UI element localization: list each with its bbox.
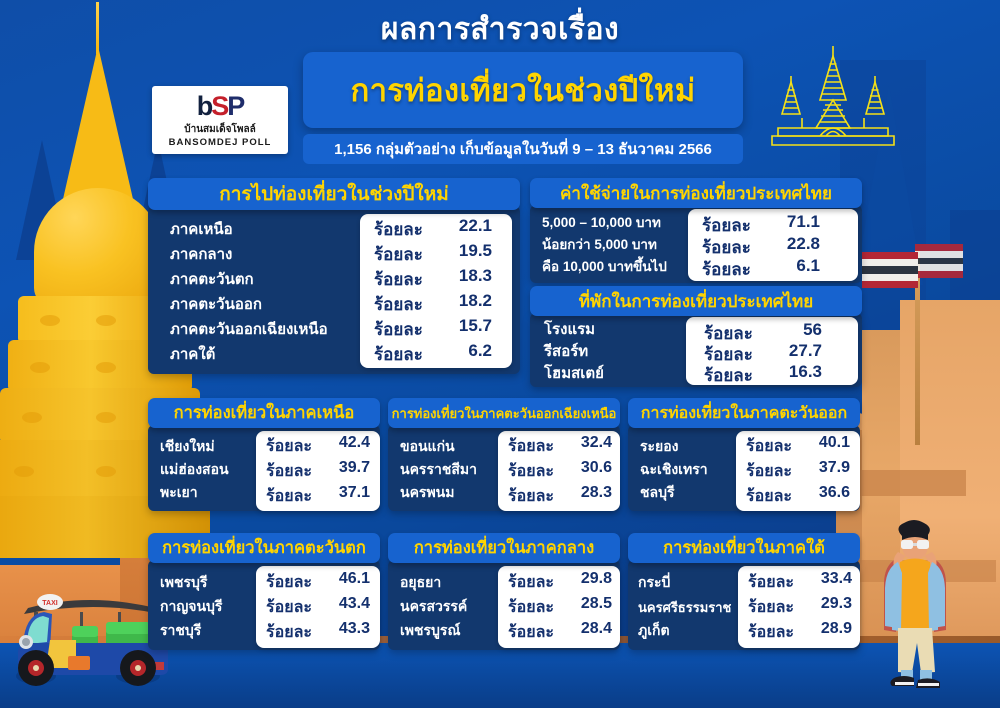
row-label: 5,000 – 10,000 บาท xyxy=(542,211,661,233)
row-label: รีสอร์ท xyxy=(544,339,588,363)
panel-body: อยุธยา นครสวรรค์ เพชรบูรณ์ ร้อยละ 29.8 ร… xyxy=(388,560,620,650)
percent-label: ร้อยละ xyxy=(748,595,802,620)
value-row: ร้อยละ 36.6 xyxy=(746,484,860,509)
percent-value: 56 xyxy=(766,320,822,341)
panel-title: ที่พักในการท่องเที่ยวประเทศไทย xyxy=(530,286,862,316)
panel-title: การไปท่องเที่ยวในช่วงปีใหม่ xyxy=(148,178,520,210)
value-row: ร้อยละ 6.1 xyxy=(702,256,858,278)
survey-subtitle: 1,156 กลุ่มตัวอย่าง เก็บข้อมูลในวันที่ 9… xyxy=(303,134,743,164)
percent-value: 28.4 xyxy=(562,620,612,645)
panel-body: 5,000 – 10,000 บาท น้อยกว่า 5,000 บาท คื… xyxy=(530,205,862,283)
value-row: ร้อยละ 39.7 xyxy=(266,459,380,484)
percent-label: ร้อยละ xyxy=(704,320,766,341)
value-row: ร้อยละ 18.2 xyxy=(374,291,512,316)
panel-south: การท่องเที่ยวในภาคใต้ กระบี่ นครศรีธรรมร… xyxy=(628,533,860,650)
value-box: ร้อยละ 40.1 ร้อยละ 37.9 ร้อยละ 36.6 xyxy=(736,431,860,511)
survey-subtitle-text: 1,156 กลุ่มตัวอย่าง เก็บข้อมูลในวันที่ 9… xyxy=(334,137,712,161)
thai-flag-icon xyxy=(862,252,918,288)
chedi-ornament-dot xyxy=(96,362,116,373)
value-box: ร้อยละ 42.4 ร้อยละ 39.7 ร้อยละ 37.1 xyxy=(256,431,380,511)
value-row: ร้อยละ 19.5 xyxy=(374,241,512,266)
percent-label: ร้อยละ xyxy=(374,216,436,241)
row-label: อยุธยา xyxy=(400,572,441,594)
chedi-ornament-dot xyxy=(40,315,60,326)
percent-value: 33.4 xyxy=(802,570,852,595)
value-row: ร้อยละ 37.9 xyxy=(746,459,860,484)
value-row: ร้อยละ 42.4 xyxy=(266,434,380,459)
page-eyebrow: ผลการสำรวจเรื่อง xyxy=(0,6,1000,53)
panel-title: การท่องเที่ยวในภาคตะวันออก xyxy=(628,398,860,428)
percent-label: ร้อยละ xyxy=(374,341,436,366)
percent-value: 19.5 xyxy=(436,241,492,266)
percent-label: ร้อยละ xyxy=(508,484,562,509)
percent-value: 46.1 xyxy=(320,570,370,595)
percent-value: 32.4 xyxy=(562,434,612,459)
percent-label: ร้อยละ xyxy=(746,484,800,509)
percent-label: ร้อยละ xyxy=(266,484,320,509)
percent-label: ร้อยละ xyxy=(266,570,320,595)
row-label: นครราชสีมา xyxy=(400,459,477,481)
logo-mark: bSP xyxy=(197,93,244,120)
percent-value: 16.3 xyxy=(766,362,822,383)
stone-wall-step-lower xyxy=(846,560,996,582)
row-label: เพชรบูรณ์ xyxy=(400,620,460,642)
row-label: คือ 10,000 บาทขึ้นไป xyxy=(542,255,667,277)
panel-west: การท่องเที่ยวในภาคตะวันตก เพชรบุรี กาญจน… xyxy=(148,533,380,650)
percent-value: 22.8 xyxy=(764,234,820,256)
value-row: ร้อยละ 71.1 xyxy=(702,212,858,234)
percent-value: 37.1 xyxy=(320,484,370,509)
logo-thai-name: บ้านสมเด็จโพลล์ xyxy=(184,122,255,137)
value-row: ร้อยละ 40.1 xyxy=(746,434,860,459)
row-label: แม่ฮ่องสอน xyxy=(160,459,229,481)
percent-label: ร้อยละ xyxy=(266,595,320,620)
row-label: โฮมสเตย์ xyxy=(544,361,604,385)
percent-label: ร้อยละ xyxy=(748,570,802,595)
percent-value: 37.9 xyxy=(800,459,850,484)
panel-body: ขอนแก่น นครราชสีมา นครพนม ร้อยละ 32.4 ร้… xyxy=(388,425,620,511)
chedi-bell-icon xyxy=(34,188,162,306)
panel-east: การท่องเที่ยวในภาคตะวันออก ระยอง ฉะเชิงเ… xyxy=(628,398,860,511)
chedi-wing-left-icon xyxy=(16,140,68,260)
percent-value: 27.7 xyxy=(766,341,822,362)
percent-label: ร้อยละ xyxy=(266,620,320,645)
percent-label: ร้อยละ xyxy=(704,362,766,383)
panel-travel-budget: ค่าใช้จ่ายในการท่องเที่ยวประเทศไทย 5,000… xyxy=(530,178,862,283)
percent-value: 71.1 xyxy=(764,212,820,234)
panel-northeast: การท่องเที่ยวในภาคตะวันออกเฉียงเหนือ ขอน… xyxy=(388,398,620,511)
logo-letter-s: S xyxy=(211,91,227,121)
value-row: ร้อยละ 22.1 xyxy=(374,216,512,241)
value-row: ร้อยละ 30.6 xyxy=(508,459,620,484)
percent-value: 28.9 xyxy=(802,620,852,645)
percent-label: ร้อยละ xyxy=(508,434,562,459)
value-row: ร้อยละ 43.3 xyxy=(266,620,380,645)
panel-north: การท่องเที่ยวในภาคเหนือ เชียงใหม่ แม่ฮ่อ… xyxy=(148,398,380,511)
percent-value: 43.3 xyxy=(320,620,370,645)
chedi-ornament-dot xyxy=(96,466,116,477)
row-label: ภาคตะวันออกเฉียงเหนือ xyxy=(170,317,328,341)
percent-label: ร้อยละ xyxy=(374,241,436,266)
row-label: โรงแรม xyxy=(544,317,595,341)
chedi-ornament-dot xyxy=(30,362,50,373)
value-box: ร้อยละ 71.1 ร้อยละ 22.8 ร้อยละ 6.1 xyxy=(688,209,858,281)
panel-title: การท่องเที่ยวในภาคใต้ xyxy=(628,533,860,563)
value-row: ร้อยละ 43.4 xyxy=(266,595,380,620)
row-label: ภาคเหนือ xyxy=(170,217,233,241)
panel-body: เชียงใหม่ แม่ฮ่องสอน พะเยา ร้อยละ 42.4 ร… xyxy=(148,425,380,511)
value-row: ร้อยละ 28.9 xyxy=(748,620,860,645)
logo-letter-p: P xyxy=(227,91,243,121)
floor-area xyxy=(0,643,1000,708)
percent-value: 42.4 xyxy=(320,434,370,459)
row-label: ราชบุรี xyxy=(160,620,201,642)
thai-flag-back-icon xyxy=(915,244,963,278)
row-label: ฉะเชิงเทรา xyxy=(640,459,708,481)
row-label: น้อยกว่า 5,000 บาท xyxy=(542,233,657,255)
percent-label: ร้อยละ xyxy=(508,459,562,484)
panel-title: ค่าใช้จ่ายในการท่องเที่ยวประเทศไทย xyxy=(530,178,862,208)
temple-spire-silhouette-icon xyxy=(855,85,923,285)
panel-accommodation: ที่พักในการท่องเที่ยวประเทศไทย โรงแรม รี… xyxy=(530,286,862,387)
logo-letter-b: b xyxy=(197,91,212,121)
value-row: ร้อยละ 29.8 xyxy=(508,570,620,595)
percent-value: 29.8 xyxy=(562,570,612,595)
percent-value: 43.4 xyxy=(320,595,370,620)
row-label: นครศรีธรรมราช xyxy=(638,597,731,618)
percent-value: 39.7 xyxy=(320,459,370,484)
value-box: ร้อยละ 46.1 ร้อยละ 43.4 ร้อยละ 43.3 xyxy=(256,566,380,648)
percent-value: 36.6 xyxy=(800,484,850,509)
panel-title: การท่องเที่ยวในภาคเหนือ xyxy=(148,398,380,428)
panel-body: กระบี่ นครศรีธรรมราช ภูเก็ต ร้อยละ 33.4 … xyxy=(628,560,860,650)
panel-central: การท่องเที่ยวในภาคกลาง อยุธยา นครสวรรค์ … xyxy=(388,533,620,650)
value-box: ร้อยละ 22.1 ร้อยละ 19.5 ร้อยละ 18.3 ร้อย… xyxy=(360,214,512,368)
percent-label: ร้อยละ xyxy=(746,459,800,484)
page-title: การท่องเที่ยวในช่วงปีใหม่ xyxy=(303,52,743,128)
percent-value: 18.3 xyxy=(436,266,492,291)
panel-body: โรงแรม รีสอร์ท โฮมสเตย์ ร้อยละ 56 ร้อยละ… xyxy=(530,313,862,387)
row-label: ภูเก็ต xyxy=(638,620,670,642)
chedi-ornament-dot xyxy=(22,412,42,423)
percent-value: 6.1 xyxy=(764,256,820,278)
row-label: เชียงใหม่ xyxy=(160,436,215,458)
percent-value: 18.2 xyxy=(436,291,492,316)
logo-english-name: BANSOMDEJ POLL xyxy=(169,137,272,148)
percent-label: ร้อยละ xyxy=(266,459,320,484)
percent-label: ร้อยละ xyxy=(704,341,766,362)
row-label: กระบี่ xyxy=(638,572,670,594)
temple-outline-icon xyxy=(758,42,908,162)
percent-value: 28.3 xyxy=(562,484,612,509)
percent-value: 29.3 xyxy=(802,595,852,620)
tourist-with-binoculars-icon xyxy=(868,518,962,698)
row-label: ภาคใต้ xyxy=(170,342,215,366)
value-row: ร้อยละ 18.3 xyxy=(374,266,512,291)
value-row: ร้อยละ 28.3 xyxy=(508,484,620,509)
panel-title: การท่องเที่ยวในภาคตะวันออกเฉียงเหนือ xyxy=(388,398,620,428)
row-label: นครพนม xyxy=(400,482,454,504)
value-row: ร้อยละ 27.7 xyxy=(704,341,858,362)
palm-tree-silhouette-icon xyxy=(930,320,1000,398)
stone-ramp-shape xyxy=(855,395,975,475)
row-label: ระยอง xyxy=(640,436,679,458)
value-row: ร้อยละ 29.3 xyxy=(748,595,860,620)
percent-label: ร้อยละ xyxy=(702,234,764,256)
percent-value: 28.5 xyxy=(562,595,612,620)
percent-label: ร้อยละ xyxy=(746,434,800,459)
percent-label: ร้อยละ xyxy=(508,620,562,645)
flag-pole xyxy=(915,250,920,445)
svg-text:TAXI: TAXI xyxy=(42,600,57,607)
percent-label: ร้อยละ xyxy=(508,595,562,620)
stone-wall-mid-block xyxy=(862,330,952,660)
panel-body: เพชรบุรี กาญจนบุรี ราชบุรี ร้อยละ 46.1 ร… xyxy=(148,560,380,650)
percent-label: ร้อยละ xyxy=(748,620,802,645)
chedi-ornament-dot xyxy=(96,315,116,326)
panel-body: ภาคเหนือ ภาคกลาง ภาคตะวันตก ภาคตะวันออก … xyxy=(148,206,520,374)
row-label: นครสวรรค์ xyxy=(400,596,467,618)
panel-title: การท่องเที่ยวในภาคกลาง xyxy=(388,533,620,563)
row-label: ภาคกลาง xyxy=(170,242,232,266)
percent-label: ร้อยละ xyxy=(508,570,562,595)
row-label: ชลบุรี xyxy=(640,482,675,504)
panel-body: ระยอง ฉะเชิงเทรา ชลบุรี ร้อยละ 40.1 ร้อย… xyxy=(628,425,860,511)
value-box: ร้อยละ 56 ร้อยละ 27.7 ร้อยละ 16.3 xyxy=(686,317,858,385)
value-row: ร้อยละ 15.7 xyxy=(374,316,512,341)
row-label: ภาคตะวันตก xyxy=(170,267,254,291)
row-label: ขอนแก่น xyxy=(400,436,455,458)
bansomdej-poll-logo: bSP บ้านสมเด็จโพลล์ BANSOMDEJ POLL xyxy=(152,86,288,154)
percent-value: 30.6 xyxy=(562,459,612,484)
value-row: ร้อยละ 37.1 xyxy=(266,484,380,509)
percent-value: 6.2 xyxy=(436,341,492,366)
panel-region-travel: การไปท่องเที่ยวในช่วงปีใหม่ ภาคเหนือ ภาค… xyxy=(148,178,520,374)
value-row: ร้อยละ 16.3 xyxy=(704,362,858,383)
stone-wall-right-block xyxy=(900,300,1000,660)
value-box: ร้อยละ 33.4 ร้อยละ 29.3 ร้อยละ 28.9 xyxy=(738,566,860,648)
percent-label: ร้อยละ xyxy=(374,291,436,316)
percent-label: ร้อยละ xyxy=(702,212,764,234)
infographic-poster: TAXI ผลการสำรวจเรื่อง การท่องเที่ยวในช่ว… xyxy=(0,0,1000,708)
row-label: พะเยา xyxy=(160,482,198,504)
percent-value: 40.1 xyxy=(800,434,850,459)
percent-label: ร้อยละ xyxy=(702,256,764,278)
percent-label: ร้อยละ xyxy=(374,266,436,291)
panel-title: การท่องเที่ยวในภาคตะวันตก xyxy=(148,533,380,563)
value-row: ร้อยละ 22.8 xyxy=(702,234,858,256)
value-row: ร้อยละ 28.4 xyxy=(508,620,620,645)
percent-value: 15.7 xyxy=(436,316,492,341)
percent-value: 22.1 xyxy=(436,216,492,241)
percent-label: ร้อยละ xyxy=(266,434,320,459)
value-box: ร้อยละ 29.8 ร้อยละ 28.5 ร้อยละ 28.4 xyxy=(498,566,620,648)
value-row: ร้อยละ 28.5 xyxy=(508,595,620,620)
chedi-ornament-dot xyxy=(14,466,34,477)
value-row: ร้อยละ 56 xyxy=(704,320,858,341)
row-label: กาญจนบุรี xyxy=(160,596,222,618)
stone-wall-step-upper xyxy=(846,470,966,496)
value-row: ร้อยละ 6.2 xyxy=(374,341,512,366)
chedi-cone-icon xyxy=(58,46,138,221)
row-label: เพชรบุรี xyxy=(160,572,207,594)
page-title-text: การท่องเที่ยวในช่วงปีใหม่ xyxy=(351,65,696,115)
value-row: ร้อยละ 33.4 xyxy=(748,570,860,595)
value-row: ร้อยละ 32.4 xyxy=(508,434,620,459)
row-label: ภาคตะวันออก xyxy=(170,292,262,316)
temple-silhouette-secondary-icon xyxy=(950,210,1000,370)
value-row: ร้อยละ 46.1 xyxy=(266,570,380,595)
value-box: ร้อยละ 32.4 ร้อยละ 30.6 ร้อยละ 28.3 xyxy=(498,431,620,511)
chedi-ornament-dot xyxy=(96,412,116,423)
percent-label: ร้อยละ xyxy=(374,316,436,341)
